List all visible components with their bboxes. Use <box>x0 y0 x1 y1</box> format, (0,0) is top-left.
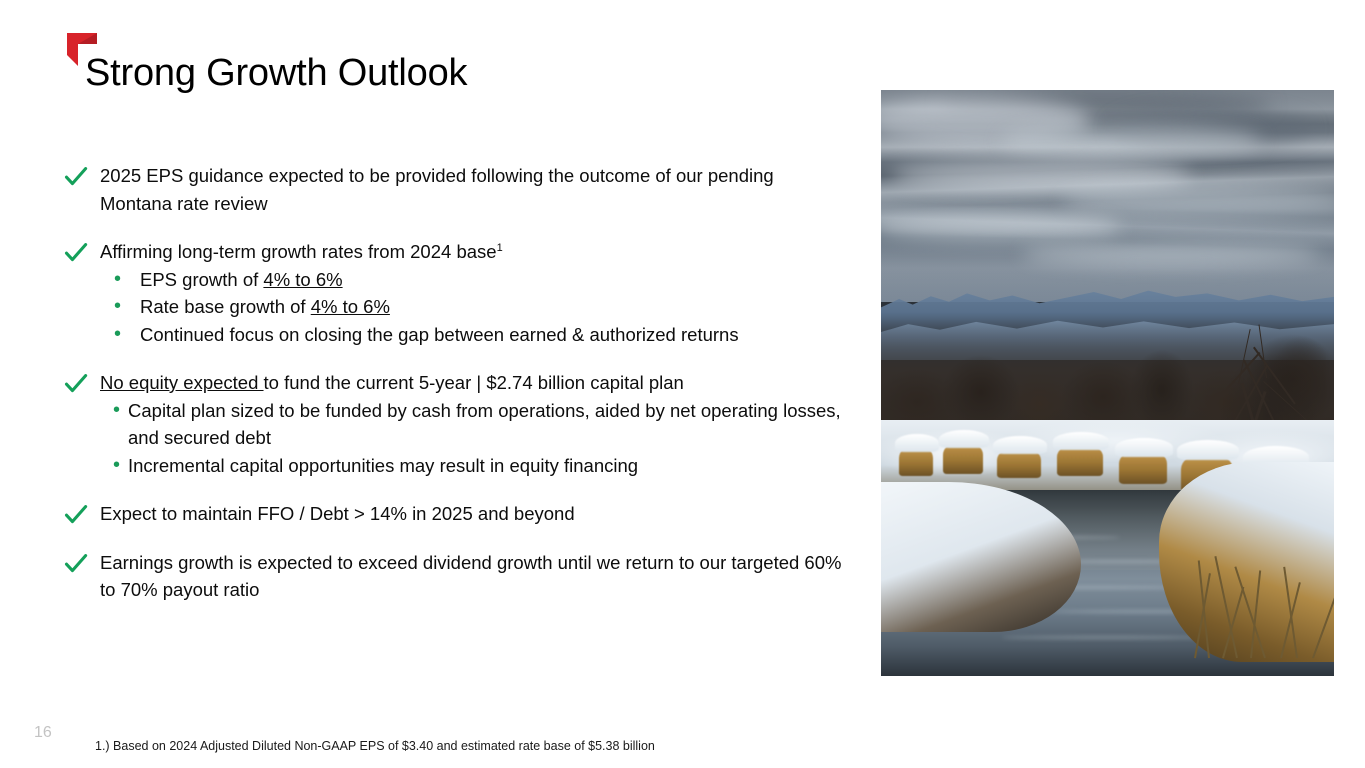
footnote-text: 1.) Based on 2024 Adjusted Diluted Non-G… <box>95 738 655 755</box>
bullet-text-main: to fund the current 5-year | $2.74 billi… <box>264 372 684 393</box>
sub-bullet-item: • Rate base growth of 4% to 6% <box>60 293 850 321</box>
sub-bullet-text: EPS growth of 4% to 6% <box>140 266 850 294</box>
sub-bullet-prefix: Rate base growth of <box>140 296 311 317</box>
sub-bullet-list: • EPS growth of 4% to 6% • Rate base gro… <box>60 266 850 349</box>
bullet-list: 2025 EPS guidance expected to be provide… <box>60 162 850 604</box>
check-mark-icon <box>63 502 89 528</box>
sub-bullet-item: • EPS growth of 4% to 6% <box>60 266 850 294</box>
bullet-text: 2025 EPS guidance expected to be provide… <box>100 162 850 217</box>
check-mark-icon <box>63 164 89 190</box>
sub-bullet-text: Rate base growth of 4% to 6% <box>140 293 850 321</box>
sub-bullet-underlined: 4% to 6% <box>263 269 342 290</box>
bullet-item-eps-guidance: 2025 EPS guidance expected to be provide… <box>60 162 850 217</box>
bullet-text: Affirming long-term growth rates from 20… <box>100 238 850 266</box>
photo-right-bank <box>1159 462 1334 662</box>
dot-bullet-icon: • <box>114 321 121 349</box>
bullet-text-underlined: No equity expected <box>100 372 264 393</box>
bullet-item-growth-rates: Affirming long-term growth rates from 20… <box>60 238 850 348</box>
sub-bullet-underlined: 4% to 6% <box>311 296 390 317</box>
bullet-item-earnings-dividend: Earnings growth is expected to exceed di… <box>60 549 850 604</box>
page-title: Strong Growth Outlook <box>85 50 467 96</box>
sub-bullet-prefix: EPS growth of <box>140 269 263 290</box>
sub-bullet-text: Incremental capital opportunities may re… <box>128 452 850 480</box>
sub-bullet-item: • Continued focus on closing the gap bet… <box>60 321 850 349</box>
sub-bullet-text: Capital plan sized to be funded by cash … <box>128 397 850 452</box>
bullet-text: No equity expected to fund the current 5… <box>100 369 850 397</box>
bullet-text: Earnings growth is expected to exceed di… <box>100 549 850 604</box>
bullet-text: Expect to maintain FFO / Debt > 14% in 2… <box>100 500 850 528</box>
dot-bullet-icon: • <box>114 266 121 294</box>
page-number: 16 <box>34 723 52 743</box>
sub-bullet-list: • Capital plan sized to be funded by cas… <box>60 397 850 480</box>
winter-creek-landscape-photo <box>881 90 1334 676</box>
sub-bullet-item: • Incremental capital opportunities may … <box>60 452 850 480</box>
photo-sky <box>881 90 1334 302</box>
footnote-reference: 1 <box>497 242 503 254</box>
dot-bullet-icon: • <box>114 293 121 321</box>
bullet-item-no-equity: No equity expected to fund the current 5… <box>60 369 850 479</box>
check-mark-icon <box>63 371 89 397</box>
dot-bullet-icon: • <box>113 397 120 425</box>
sub-bullet-text: Continued focus on closing the gap betwe… <box>140 321 850 349</box>
check-mark-icon <box>63 240 89 266</box>
bullet-item-ffo-debt: Expect to maintain FFO / Debt > 14% in 2… <box>60 500 850 528</box>
photo-reeds <box>1184 548 1334 658</box>
dot-bullet-icon: • <box>113 452 120 480</box>
check-mark-icon <box>63 551 89 577</box>
sub-bullet-item: • Capital plan sized to be funded by cas… <box>60 397 850 452</box>
bullet-text-main: Affirming long-term growth rates from 20… <box>100 241 497 262</box>
